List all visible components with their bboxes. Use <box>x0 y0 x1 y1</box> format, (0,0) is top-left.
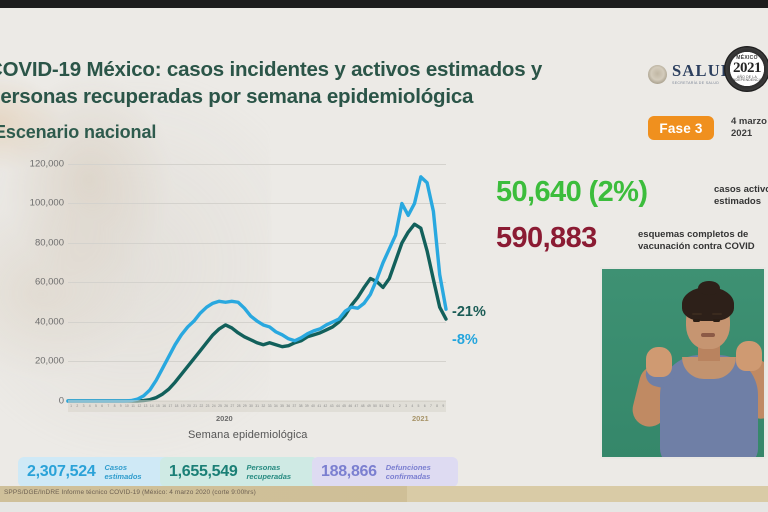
active-cases-label: casos activos estimados <box>714 184 768 208</box>
presentation-slide: COVID-19 México: casos incidentes y acti… <box>0 8 768 502</box>
x-axis-title: Semana epidemiológica <box>188 429 308 441</box>
stat-box-defunciones-confirmadas: 188,866 Defunciones confirmadas <box>312 457 458 487</box>
interpreter-left-brow <box>692 313 702 315</box>
x-tick: 9 <box>440 401 446 412</box>
y-tick-100000: 100,000 <box>2 198 64 209</box>
active-cases-value: 50,640 (2%) <box>496 176 647 209</box>
stat-label: Casos estimados <box>104 463 165 481</box>
stat-value: 1,655,549 <box>169 463 237 481</box>
series-line-activos <box>68 177 446 401</box>
date-label: 4 marzo 2021 <box>731 116 768 140</box>
annotation-incident-change: -8% <box>452 332 478 348</box>
interpreter-right-eye <box>713 319 720 322</box>
seal-year-text: 2021 <box>724 61 768 76</box>
x-year-label-2020: 2020 <box>216 414 233 423</box>
y-tick-120000: 120,000 <box>2 159 64 170</box>
seal-bottom-text: AÑO DE LA INDEPENDENCIA <box>724 76 768 83</box>
interpreter-left-hand <box>646 347 672 377</box>
salud-logo: SALUD SECRETARÍA DE SALUD <box>648 63 734 85</box>
fase-badge: Fase 3 <box>648 116 714 140</box>
interpreter-hair-bun <box>698 281 720 295</box>
chart-series-svg <box>68 164 446 401</box>
annotation-recovered-change: -21% <box>452 304 486 320</box>
salud-subtext: SECRETARÍA DE SALUD <box>672 82 734 86</box>
y-tick-60000: 60,000 <box>2 277 64 288</box>
y-axis-labels: 120,000 100,000 80,000 60,000 40,000 20,… <box>0 156 64 409</box>
x-axis-ticks: 1234567891011121314151617181920212223242… <box>68 401 446 412</box>
footer-source-text: SPPS/DGE/InDRE Informe técnico COVID-19 … <box>4 489 256 496</box>
stat-label: Personas recuperadas <box>246 463 309 481</box>
y-tick-40000: 40,000 <box>2 317 64 328</box>
interpreter-right-brow <box>712 313 722 315</box>
epidemic-curve-chart: 120,000 100,000 80,000 60,000 40,000 20,… <box>0 148 470 448</box>
salud-seal-icon <box>648 65 667 84</box>
vaccination-value: 590,883 <box>496 222 597 255</box>
stat-value: 188,866 <box>321 463 377 481</box>
letterbox-bottom-bar <box>0 502 768 512</box>
stat-label: Defunciones confirmadas <box>386 463 449 481</box>
interpreter-left-eye <box>693 319 700 322</box>
stat-box-casos-estimados: 2,307,524 Casos estimados <box>18 457 174 487</box>
mexico-2021-seal-icon: MÉXICO 2021 AÑO DE LA INDEPENDENCIA <box>724 46 768 92</box>
vaccination-label: esquemas completos de vacunación contra … <box>638 229 768 253</box>
chart-plot-area <box>68 164 446 401</box>
slide-screenshot: COVID-19 México: casos incidentes y acti… <box>0 0 768 512</box>
y-tick-20000: 20,000 <box>2 356 64 367</box>
x-year-label-2021: 2021 <box>412 414 429 423</box>
page-subtitle: Escenario nacional <box>0 122 156 143</box>
y-tick-80000: 80,000 <box>2 238 64 249</box>
stat-value: 2,307,524 <box>27 463 95 481</box>
y-tick-0: 0 <box>2 396 64 407</box>
page-title: COVID-19 México: casos incidentes y acti… <box>0 56 588 110</box>
stat-box-personas-recuperadas: 1,655,549 Personas recuperadas <box>160 457 318 487</box>
letterbox-top-bar <box>0 0 768 8</box>
interpreter-right-hand <box>736 341 762 371</box>
interpreter-mouth <box>701 333 715 337</box>
sign-language-interpreter-video <box>600 267 766 459</box>
